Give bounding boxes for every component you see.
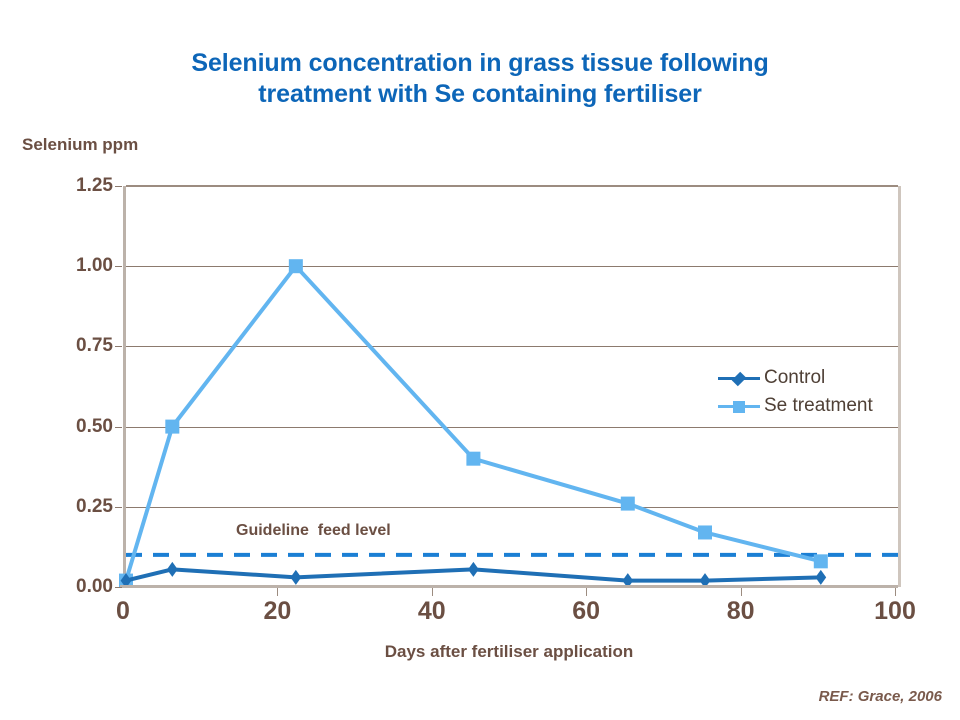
- x-tick-mark: [586, 588, 587, 596]
- y-tick-mark: [115, 266, 122, 267]
- x-axis-line: [120, 585, 898, 588]
- y-tick-label-0.25: 0.25: [55, 496, 113, 518]
- source-reference-note: REF: Grace, 2006: [819, 688, 942, 705]
- data-point-control: [290, 570, 301, 585]
- y-tick-mark: [115, 186, 122, 187]
- guideline-feed-level-label: Guideline feed level: [236, 522, 391, 540]
- data-point-se-treatment: [165, 420, 179, 434]
- y-tick-label-1.00: 1.00: [55, 255, 113, 277]
- x-tick-mark: [895, 588, 896, 596]
- data-point-se-treatment: [621, 497, 635, 511]
- data-point-control: [815, 570, 826, 585]
- y-tick-label-0.00: 0.00: [55, 576, 113, 598]
- x-tick-mark: [741, 588, 742, 596]
- x-tick-label-20: 20: [263, 597, 291, 626]
- x-tick-label-40: 40: [418, 597, 446, 626]
- series-line-se-treatment: [126, 266, 821, 580]
- data-point-se-treatment: [814, 554, 828, 568]
- x-tick-label-100: 100: [874, 597, 916, 626]
- y-tick-mark: [115, 346, 122, 347]
- data-point-se-treatment: [466, 452, 480, 466]
- x-tick-mark: [432, 588, 433, 596]
- data-point-se-treatment: [698, 525, 712, 539]
- chart-title-line-1: Selenium concentration in grass tissue f…: [80, 48, 880, 79]
- legend-marker-diamond-icon: [718, 370, 760, 386]
- chart-title: Selenium concentration in grass tissue f…: [80, 48, 880, 109]
- chart-title-line-2: treatment with Se containing fertiliser: [80, 79, 880, 110]
- legend-item-se-treatment[interactable]: Se treatment: [718, 392, 873, 420]
- legend-item-control[interactable]: Control: [718, 364, 873, 392]
- chart-figure: Selenium concentration in grass tissue f…: [0, 0, 960, 720]
- data-point-se-treatment: [289, 259, 303, 273]
- y-tick-mark: [115, 587, 122, 588]
- y-tick-label-0.50: 0.50: [55, 416, 113, 438]
- y-tick-label-1.25: 1.25: [55, 175, 113, 197]
- x-tick-mark: [277, 588, 278, 596]
- x-tick-label-60: 60: [572, 597, 600, 626]
- chart-legend: Control Se treatment: [712, 362, 879, 422]
- legend-label-control: Control: [764, 367, 825, 389]
- x-axis-title: Days after fertiliser application: [123, 642, 895, 662]
- y-tick-label-0.75: 0.75: [55, 335, 113, 357]
- y-tick-mark: [115, 507, 122, 508]
- x-tick-label-80: 80: [727, 597, 755, 626]
- legend-marker-square-icon: [718, 398, 760, 414]
- y-tick-mark: [115, 427, 122, 428]
- y-axis-title: Selenium ppm: [22, 135, 138, 155]
- data-point-control: [167, 562, 178, 577]
- x-tick-label-0: 0: [116, 597, 130, 626]
- data-point-control: [468, 562, 479, 577]
- legend-label-se-treatment: Se treatment: [764, 395, 873, 417]
